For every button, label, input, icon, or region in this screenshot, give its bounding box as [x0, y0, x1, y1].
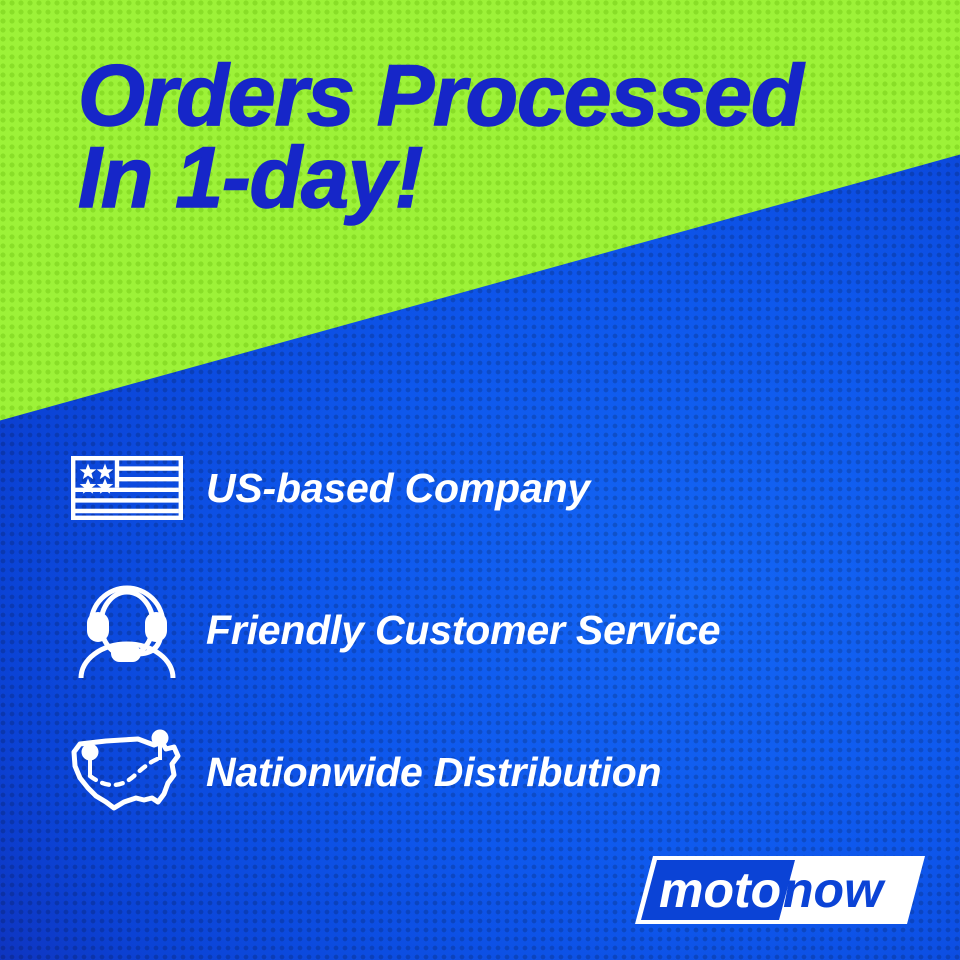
list-item: US-based Company	[0, 440, 960, 536]
headset-support-icon	[62, 582, 192, 678]
us-flag-icon	[62, 440, 192, 536]
headline: Orders Processed In 1-day!	[78, 56, 908, 219]
feature-label: Nationwide Distribution	[206, 749, 661, 796]
feature-label: Friendly Customer Service	[206, 607, 720, 654]
logo-text-moto: moto	[659, 862, 781, 918]
logo-text-now: now	[783, 862, 886, 918]
us-map-route-icon	[62, 724, 192, 820]
list-item: Nationwide Distribution	[0, 724, 960, 820]
feature-list: US-based Company	[0, 440, 960, 866]
promo-poster: Orders Processed In 1-day!	[0, 0, 960, 960]
feature-label: US-based Company	[206, 465, 590, 512]
list-item: Friendly Customer Service	[0, 582, 960, 678]
motonow-logo[interactable]: moto now	[635, 851, 925, 929]
